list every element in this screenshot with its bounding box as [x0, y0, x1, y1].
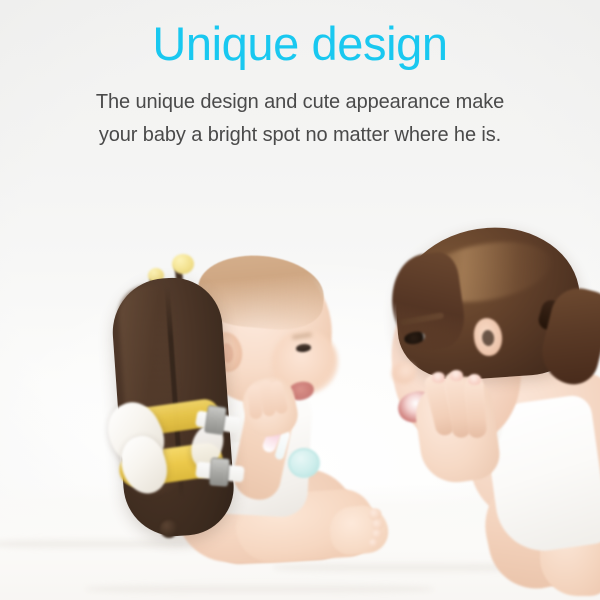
- bee-tail-ball: [160, 520, 178, 538]
- page-title: Unique design: [0, 16, 600, 72]
- subtitle-line-2: your baby a bright spot no matter where …: [0, 119, 600, 152]
- bee-antenna-tip: [172, 254, 194, 274]
- subtitle-line-1: The unique design and cute appearance ma…: [0, 86, 600, 119]
- page-subtitle: The unique design and cute appearance ma…: [0, 86, 600, 152]
- product-banner: Unique design The unique design and cute…: [0, 0, 600, 600]
- bee-harness-buckle: [204, 405, 227, 435]
- bee-harness-buckle: [209, 457, 230, 486]
- headline-block: Unique design The unique design and cute…: [0, 16, 600, 152]
